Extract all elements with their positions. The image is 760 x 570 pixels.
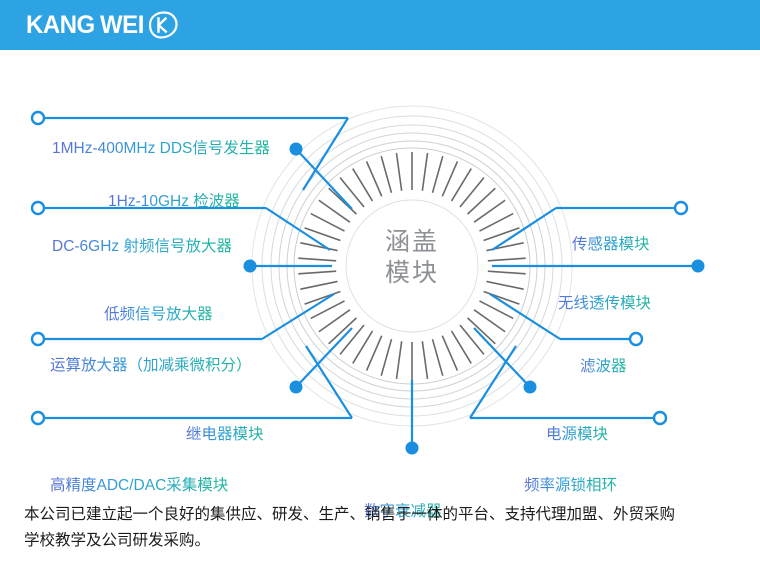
kangwei-k-logo-icon <box>148 11 178 39</box>
radial-tick <box>486 281 523 289</box>
endpoint-dot-hollow[interactable] <box>32 202 44 214</box>
connector-line <box>474 328 530 387</box>
endpoint-dot-hollow[interactable] <box>675 202 687 214</box>
footer-line-1: 本公司已建立起一个良好的集供应、研发、生产、销售于一体的平台、支持代理加盟、外贸… <box>24 502 740 528</box>
footer-line-2: 学校教学及公司研发采购。 <box>24 528 740 554</box>
module-label-right_items-2[interactable]: 滤波器 <box>580 358 627 376</box>
radial-tick <box>298 258 336 261</box>
radial-tick <box>433 339 443 376</box>
radial-tick <box>367 336 382 371</box>
endpoint-dot-solid[interactable] <box>692 260 705 273</box>
module-label-left_items-4[interactable]: 运算放大器（加减乘微积分） <box>50 357 252 375</box>
radial-tick <box>381 339 391 376</box>
radial-tick <box>488 271 526 274</box>
connector-line <box>492 208 556 250</box>
radial-tick <box>396 341 401 379</box>
radial-tick <box>488 258 526 261</box>
radial-tick <box>311 301 345 318</box>
radial-tick <box>396 153 401 191</box>
brand-name-secondary: WEI <box>100 11 144 39</box>
endpoint-dot-hollow[interactable] <box>654 412 666 424</box>
module-label-left_items-5[interactable]: 继电器模块 <box>186 426 264 444</box>
radial-tick <box>422 153 427 191</box>
page-header: KANG WEI <box>0 0 760 50</box>
module-label-right_items-0[interactable]: 传感器模块 <box>572 236 650 254</box>
module-label-right_items-4[interactable]: 频率源锁相环 <box>524 477 617 495</box>
radial-tick <box>479 214 513 231</box>
module-label-left_items-2[interactable]: DC-6GHz 射频信号放大器 <box>52 238 232 256</box>
module-label-right_items-1[interactable]: 无线透传模块 <box>558 295 651 313</box>
connector-line <box>262 294 334 339</box>
module-label-left_items-1[interactable]: 1Hz-10GHz 检波器 <box>108 193 240 211</box>
module-label-left_items-0[interactable]: 1MHz-400MHz DDS信号发生器 <box>52 140 270 158</box>
brand-name-primary: KANG <box>26 11 95 39</box>
radial-tick <box>367 161 382 196</box>
module-label-left_items-6[interactable]: 高精度ADC/DAC采集模块 <box>50 477 228 495</box>
footer-description: 本公司已建立起一个良好的集供应、研发、生产、销售于一体的平台、支持代理加盟、外贸… <box>24 502 740 554</box>
radial-tick <box>311 214 345 231</box>
center-label-line2: 模块 <box>352 258 472 289</box>
radial-tick <box>381 156 391 193</box>
center-label: 涵盖 模块 <box>352 227 472 289</box>
radial-tick <box>422 341 427 379</box>
radial-tick <box>484 228 520 241</box>
connector-line <box>306 346 352 418</box>
endpoint-dot-hollow[interactable] <box>630 333 642 345</box>
endpoint-dot-hollow[interactable] <box>32 412 44 424</box>
endpoint-dot-hollow[interactable] <box>32 333 44 345</box>
radial-diagram: 涵盖 模块 1MHz-400MHz DDS信号发生器1Hz-10GHz 检波器D… <box>0 50 760 490</box>
radial-tick <box>305 228 341 241</box>
endpoint-dot-solid[interactable] <box>244 260 257 273</box>
module-label-right_items-3[interactable]: 电源模块 <box>546 426 608 444</box>
center-label-line1: 涵盖 <box>352 227 472 258</box>
radial-tick <box>442 161 457 196</box>
module-label-left_items-3[interactable]: 低频信号放大器 <box>104 306 213 324</box>
radial-tick <box>433 156 443 193</box>
radial-tick <box>479 301 513 318</box>
radial-tick <box>300 281 337 289</box>
radial-tick <box>442 336 457 371</box>
page-root: KANG WEI <box>0 0 760 570</box>
endpoint-dot-hollow[interactable] <box>32 112 44 124</box>
brand-logo[interactable]: KANG WEI <box>26 11 178 39</box>
radial-tick <box>298 271 336 274</box>
